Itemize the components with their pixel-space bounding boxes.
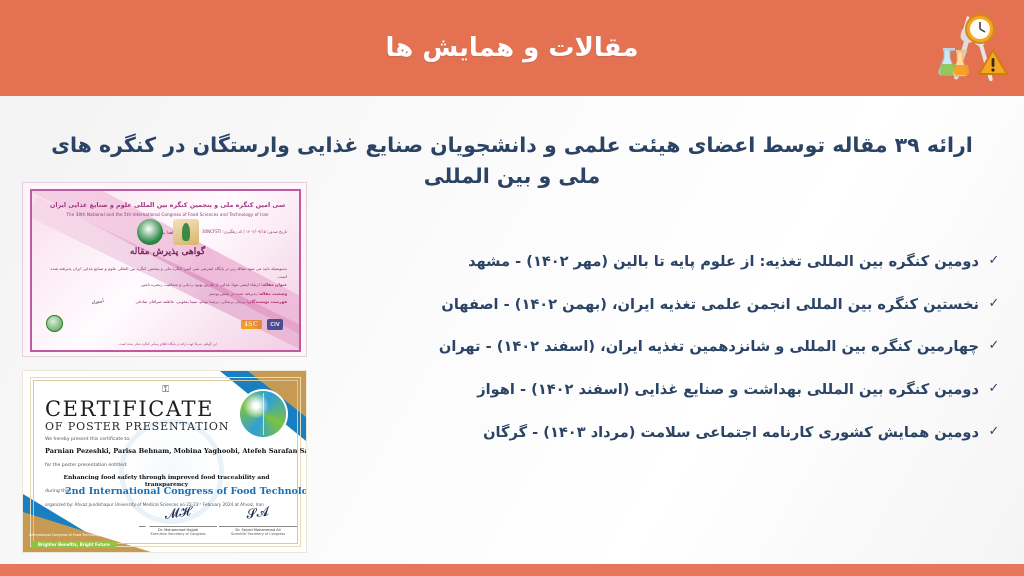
certificate-two-badge-ordinal: nd bbox=[126, 530, 136, 538]
certificate-one-body-line1: بدینوسیله تایید می شود مقاله زیر در پایگ… bbox=[40, 265, 287, 281]
list-item-label: چهارمین کنگره بین المللی و شانزدهمین تغذ… bbox=[402, 337, 979, 357]
certificate-two-badge-text: International Congress of Food Technolog… bbox=[29, 533, 124, 538]
list-item-label: دومین همایش کشوری کارنامه اجتماعی سلامت … bbox=[402, 423, 979, 443]
certificate-one-frame: سی امین کنگره ملی و پنجمین کنگره بین الم… bbox=[30, 189, 301, 352]
list-item: ✓ دومین کنگره بین المللی بهداشت و صنایع … bbox=[402, 380, 1002, 400]
certificate-two-signature-right-role: Scientific Secretary of Congress bbox=[219, 532, 297, 536]
footer-bar bbox=[0, 564, 1024, 576]
certificate-image-poster-presentation: ⚿ CERTIFICATE OF POSTER PRESENTATION We … bbox=[22, 370, 307, 553]
certificate-two-entitled-line: for the poster presentation entitled: bbox=[45, 463, 128, 468]
certificate-one-heading-fa: سی امین کنگره ملی و پنجمین کنگره بین الم… bbox=[32, 201, 301, 209]
certificate-one-badges: ISC CIV bbox=[241, 319, 283, 330]
certificate-image-congress-iran: سی امین کنگره ملی و پنجمین کنگره بین الم… bbox=[22, 182, 307, 357]
certificate-one-body-line2: عنوان مقاله: ارتقاء ایمنی مواد غذایی از … bbox=[40, 281, 287, 289]
list-item: ✓ چهارمین کنگره بین المللی و شانزدهمین ت… bbox=[402, 337, 1002, 357]
header-title: مقالات و همایش ها bbox=[0, 0, 1024, 96]
congress-list: ✓ دومین کنگره بین المللی تغذیه: از علوم … bbox=[402, 252, 1002, 465]
certificate-one-to-label: اهدا به bbox=[32, 231, 301, 236]
list-item: ✓ دومین همایش کشوری کارنامه اجتماعی سلام… bbox=[402, 423, 1002, 443]
certificate-two-tagline: Brighter Benefits, Bright Future bbox=[31, 541, 117, 548]
list-item: ✓ دومین کنگره بین المللی تغذیه: از علوم … bbox=[402, 252, 1002, 272]
certificate-two-title: CERTIFICATE bbox=[45, 397, 214, 421]
lock-icon: ⚿ bbox=[23, 385, 307, 395]
certificate-two-signature-right: 𝓢𝓐 Dr. Seyed Mohammad Ali Scientific Sec… bbox=[219, 506, 297, 536]
certificate-one-footer: این گواهی صرفاً جهت ارائه در پایگاه اطلا… bbox=[32, 342, 301, 346]
certificate-one-seal-icon bbox=[46, 315, 63, 332]
list-item: ✓ نخستین کنگره بین المللی انجمن علمی تغذ… bbox=[402, 295, 1002, 315]
list-item-label: نخستین کنگره بین المللی انجمن علمی تغذیه… bbox=[402, 295, 979, 315]
isc-badge: ISC bbox=[241, 320, 262, 329]
globe-icon bbox=[240, 391, 286, 437]
food-safety-logo bbox=[930, 6, 1016, 90]
certificate-two-present-line: We hereby present this certificate to: bbox=[45, 437, 131, 442]
certificate-one-body-line3: وضعیت مقاله: پذیرفته شده در بخش پوستر bbox=[40, 290, 287, 298]
certificate-two-subtitle: OF POSTER PRESENTATION bbox=[45, 420, 229, 433]
certificate-two-badge-number: 2 bbox=[138, 520, 152, 538]
check-icon: ✓ bbox=[986, 423, 1002, 441]
certificate-two-names: Parnian Pezeshki, Parisa Behnam, Mobina … bbox=[45, 447, 307, 455]
presentation-slide: مقالات و همایش ها bbox=[0, 0, 1024, 576]
certificate-one-heading-en: The 30th National and the 5th Internatio… bbox=[32, 212, 301, 217]
certificate-one-body: بدینوسیله تایید می شود مقاله زیر در پایگ… bbox=[40, 265, 287, 306]
certificate-two-badge: 2 nd International Congress of Food Tech… bbox=[29, 520, 151, 538]
list-item-label: دومین کنگره بین المللی بهداشت و صنایع غذ… bbox=[402, 380, 979, 400]
check-icon: ✓ bbox=[986, 337, 1002, 355]
list-item-label: دومین کنگره بین المللی تغذیه: از علوم پا… bbox=[402, 252, 979, 272]
civilica-badge: CIV bbox=[267, 319, 283, 330]
certificate-two-congress: 2nd International Congress of Food Techn… bbox=[65, 486, 307, 497]
certificate-one-award-title: گواهی پذیرش مقاله bbox=[32, 247, 301, 257]
check-icon: ✓ bbox=[986, 295, 1002, 313]
check-icon: ✓ bbox=[986, 252, 1002, 270]
check-icon: ✓ bbox=[986, 380, 1002, 398]
